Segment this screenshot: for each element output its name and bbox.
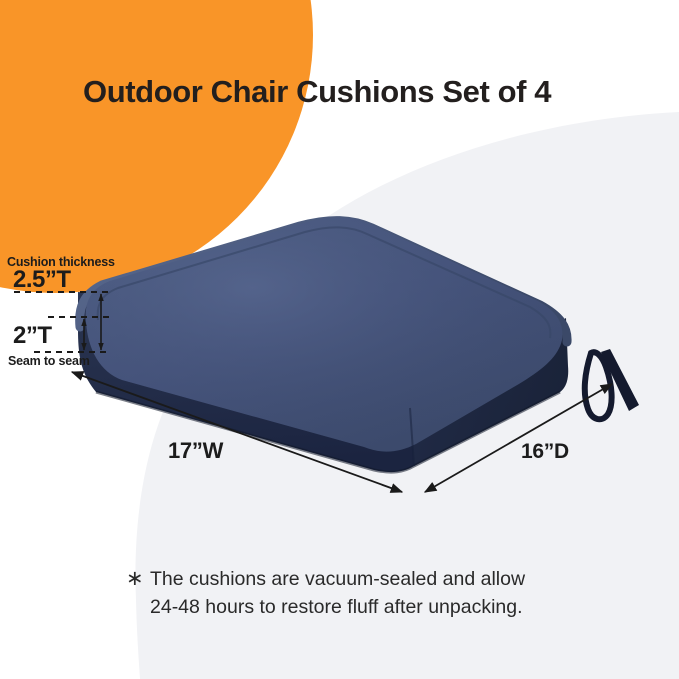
footnote-line-2: 24-48 hours to restore fluff after unpac… [150,593,596,621]
page-title: Outdoor Chair Cushions Set of 4 [83,74,643,110]
orange-circle-shape [0,0,313,293]
footnote: ∗ The cushions are vacuum-sealed and all… [126,565,596,621]
product-infographic: Outdoor Chair Cushions Set of 4 Cushion … [0,0,679,679]
footnote-line-1: The cushions are vacuum-sealed and allow [150,565,596,593]
depth-value: 16”D [521,440,569,464]
seam-value: 2”T [13,322,52,350]
footnote-asterisk-icon: ∗ [126,565,144,593]
seam-caption: Seam to seam [8,354,90,368]
thickness-value: 2.5”T [13,266,71,294]
width-value: 17”W [168,438,223,464]
